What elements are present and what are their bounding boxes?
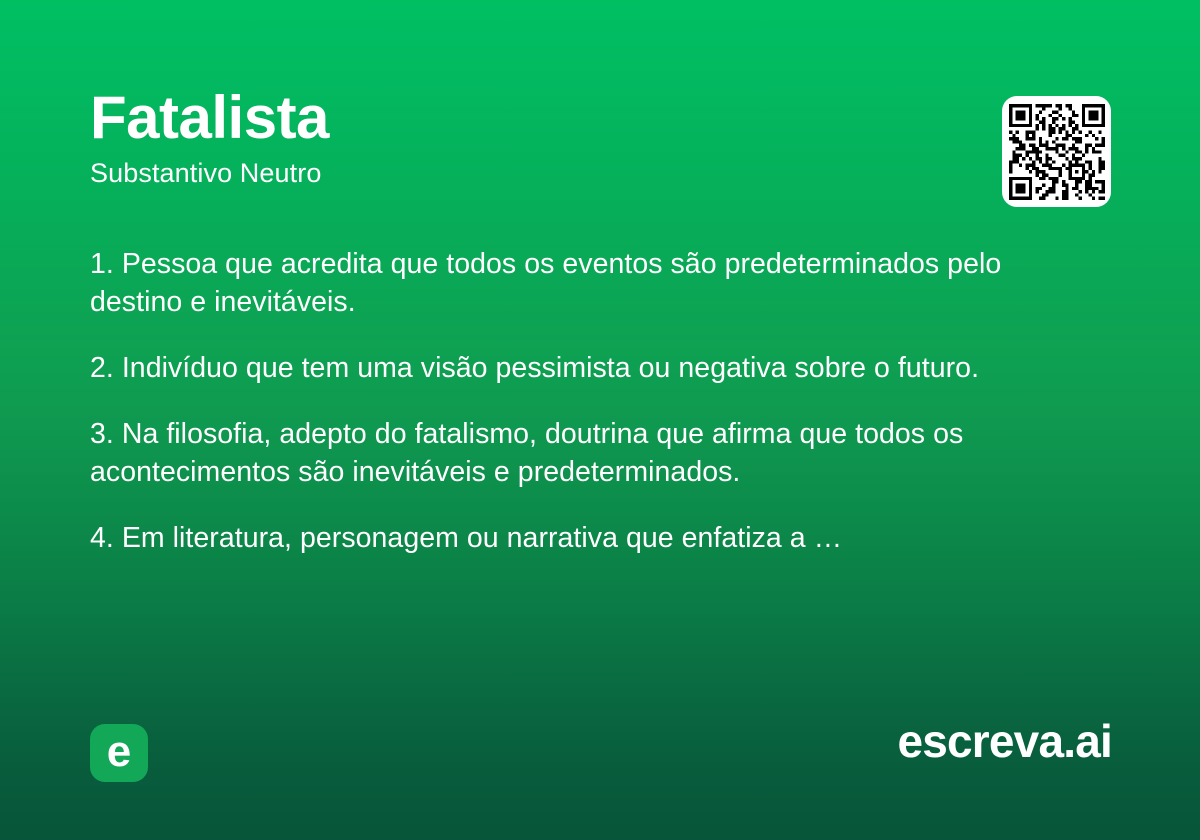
card-header: Fatalista Substantivo Neutro <box>90 84 950 190</box>
qr-code-icon <box>1009 104 1105 200</box>
word-class-label: Substantivo Neutro <box>90 157 950 189</box>
definition-item: 1. Pessoa que acredita que todos os even… <box>90 245 1090 321</box>
definition-item: 3. Na filosofia, adepto do fatalismo, do… <box>90 415 1090 491</box>
definition-item: 4. Em literatura, personagem ou narrativ… <box>90 519 1090 557</box>
definition-card: Fatalista Substantivo Neutro 1. Pessoa q… <box>0 0 1200 840</box>
definition-list: 1. Pessoa que acredita que todos os even… <box>90 245 1090 557</box>
brand-wordmark: escreva.ai <box>897 718 1112 764</box>
escreva-logo-tile: e <box>90 724 148 782</box>
logo-letter: e <box>107 730 131 774</box>
page-title: Fatalista <box>90 84 950 151</box>
definition-item: 2. Indivíduo que tem uma visão pessimist… <box>90 349 1090 387</box>
qr-code-card[interactable] <box>1002 96 1111 207</box>
